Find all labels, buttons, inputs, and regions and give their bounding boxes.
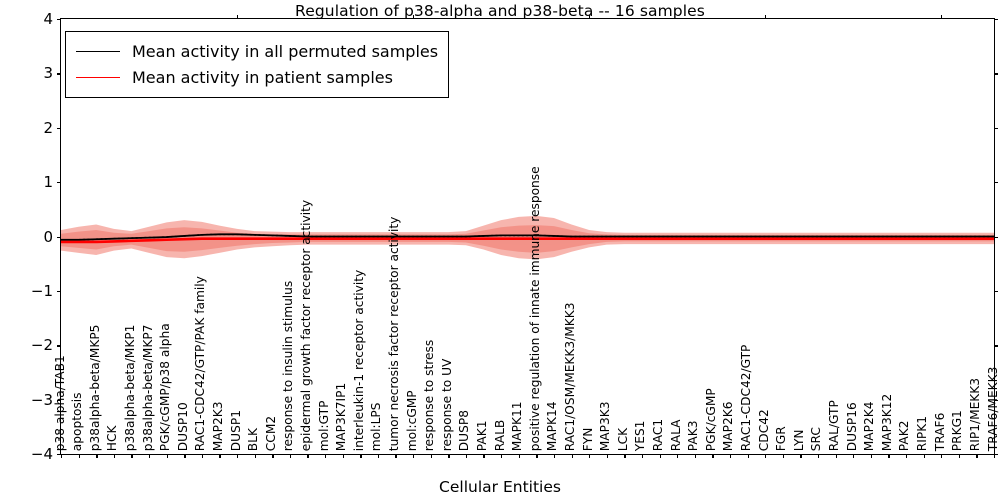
x-tick-mark — [642, 454, 643, 458]
x-tick-label: MAP3K12 — [881, 394, 893, 451]
y-tick-mark — [994, 19, 998, 20]
x-tick-label: TRAF6/MEKK3 — [986, 366, 998, 451]
x-tick-label: FYN — [581, 427, 593, 451]
y-tick-label: −1 — [3, 282, 53, 300]
x-tick-label: MAP2K6 — [722, 401, 734, 451]
x-tick-label: MAP2K4 — [863, 401, 875, 451]
x-axis-label: Cellular Entities — [0, 478, 1000, 496]
x-tick-mark — [79, 454, 80, 458]
x-tick-mark — [61, 454, 62, 458]
x-tick-label: RALB — [493, 420, 505, 451]
x-tick-mark — [589, 454, 590, 458]
x-tick-mark — [976, 454, 977, 458]
x-tick-label: LCK — [617, 428, 629, 451]
x-tick-mark — [184, 454, 185, 458]
legend-entry: Mean activity in all permuted samples — [76, 38, 438, 64]
x-tick-mark — [677, 454, 678, 458]
x-tick-label: RAC1/OSM/MEKK3/MKK3 — [564, 302, 576, 451]
x-tick-mark — [131, 454, 132, 458]
y-tick-label: −2 — [3, 336, 53, 354]
x-tick-mark — [219, 454, 220, 458]
y-tick-mark — [994, 73, 998, 74]
y-tick-label: 3 — [3, 64, 53, 82]
x-tick-mark — [888, 454, 889, 458]
x-tick-mark — [871, 454, 872, 458]
x-tick-mark — [607, 454, 608, 458]
legend-swatch-permuted — [76, 51, 120, 52]
legend-entry: Mean activity in patient samples — [76, 64, 438, 90]
x-tick-mark — [748, 454, 749, 458]
figure: Regulation of p38-alpha and p38-beta -- … — [0, 0, 1000, 500]
plot-area: −4−3−2−101234 p38 alpha/TAB1apoptosisp38… — [60, 18, 995, 455]
x-tick-label: p38alpha-beta/MKP7 — [141, 324, 153, 451]
x-tick-label: DUSP8 — [458, 410, 470, 451]
x-tick-label: RALA — [669, 419, 681, 451]
y-tick-mark — [994, 128, 998, 129]
x-tick-label: CDC42 — [757, 409, 769, 451]
x-tick-mark — [941, 454, 942, 458]
x-tick-mark — [96, 454, 97, 458]
x-tick-mark — [378, 454, 379, 458]
x-tick-label: DUSP10 — [177, 402, 189, 451]
x-tick-mark-top — [413, 15, 414, 19]
x-tick-mark — [413, 454, 414, 458]
x-tick-label: positive regulation of innate immune res… — [529, 166, 541, 451]
y-tick-label: 2 — [3, 119, 53, 137]
x-tick-mark-top — [237, 15, 238, 19]
x-tick-label: tumor necrosis factor receptor activity — [388, 216, 400, 451]
x-tick-mark — [695, 454, 696, 458]
y-tick-mark — [994, 182, 998, 183]
x-tick-mark — [501, 454, 502, 458]
y-tick-label: −3 — [3, 391, 53, 409]
x-tick-mark — [307, 454, 308, 458]
x-tick-mark — [149, 454, 150, 458]
x-tick-mark — [959, 454, 960, 458]
x-tick-label: RIPK1 — [916, 416, 928, 451]
x-tick-label: p38 alpha/TAB1 — [53, 355, 65, 451]
legend-label-patient: Mean activity in patient samples — [132, 68, 393, 87]
x-tick-mark — [431, 454, 432, 458]
x-tick-mark — [483, 454, 484, 458]
x-tick-label: DUSP1 — [229, 410, 241, 451]
x-tick-label: apoptosis — [71, 392, 83, 451]
y-tick-mark — [994, 291, 998, 292]
legend-label-permuted: Mean activity in all permuted samples — [132, 42, 438, 61]
x-tick-mark — [167, 454, 168, 458]
x-tick-label: response to UV — [441, 358, 453, 451]
x-tick-mark — [237, 454, 238, 458]
x-tick-mark — [290, 454, 291, 458]
x-tick-label: PAK1 — [476, 420, 488, 451]
y-tick-mark — [57, 237, 61, 238]
x-tick-mark-top — [941, 15, 942, 19]
x-tick-mark — [836, 454, 837, 458]
y-tick-label: 1 — [3, 173, 53, 191]
x-tick-label: RAL/GTP — [828, 400, 840, 451]
y-tick-label: 0 — [3, 228, 53, 246]
x-tick-mark — [572, 454, 573, 458]
x-tick-label: MAP3K7IP1 — [335, 383, 347, 451]
x-tick-mark — [924, 454, 925, 458]
x-tick-label: response to insulin stimulus — [282, 281, 294, 451]
x-tick-mark — [800, 454, 801, 458]
x-tick-label: LYN — [793, 429, 805, 451]
x-tick-mark — [395, 454, 396, 458]
y-tick-mark — [994, 237, 998, 238]
x-tick-label: DUSP16 — [845, 402, 857, 451]
y-tick-mark — [57, 345, 61, 346]
x-tick-mark — [660, 454, 661, 458]
x-tick-mark — [730, 454, 731, 458]
x-tick-label: mol:GTP — [317, 400, 329, 451]
x-tick-mark — [202, 454, 203, 458]
x-tick-label: RAC1-CDC42/GTP — [740, 344, 752, 451]
x-tick-label: mol:cGMP — [405, 390, 417, 451]
x-tick-label: PAK2 — [898, 420, 910, 451]
x-tick-mark — [994, 454, 995, 458]
x-tick-label: MAP2K3 — [212, 401, 224, 451]
x-tick-label: MAPK11 — [511, 401, 523, 451]
x-tick-mark — [536, 454, 537, 458]
x-tick-label: CCM2 — [265, 416, 277, 451]
x-tick-label: FGR — [775, 426, 787, 451]
x-tick-label: BLK — [247, 428, 259, 451]
x-tick-mark — [519, 454, 520, 458]
x-tick-mark — [343, 454, 344, 458]
y-tick-mark — [57, 291, 61, 292]
x-tick-label: MAPK14 — [546, 401, 558, 451]
legend-swatch-patient — [76, 77, 120, 78]
x-tick-label: RIP1/MEKK3 — [969, 378, 981, 451]
y-tick-label: −4 — [3, 445, 53, 463]
x-tick-label: epidermal growth factor receptor activit… — [300, 200, 312, 451]
x-tick-mark-top — [765, 15, 766, 19]
x-tick-label: response to stress — [423, 340, 435, 451]
x-tick-mark — [765, 454, 766, 458]
x-tick-label: TRAF6 — [933, 412, 945, 451]
x-tick-label: YES1 — [634, 420, 646, 451]
x-tick-label: RAC1 — [652, 419, 664, 451]
x-tick-mark — [325, 454, 326, 458]
x-tick-mark — [255, 454, 256, 458]
x-tick-label: PGK/cGMP — [705, 388, 717, 451]
x-tick-label: PGK/cGMP/p38 alpha — [159, 323, 171, 451]
x-tick-label: MAP3K3 — [599, 401, 611, 451]
y-tick-label: 4 — [3, 10, 53, 28]
x-tick-mark-top — [589, 15, 590, 19]
y-tick-mark — [57, 19, 61, 20]
x-tick-mark — [448, 454, 449, 458]
x-tick-mark — [906, 454, 907, 458]
y-tick-mark — [57, 73, 61, 74]
x-tick-mark — [624, 454, 625, 458]
y-tick-mark — [994, 345, 998, 346]
x-tick-label: RAC1-CDC42/GTP/PAK family — [194, 276, 206, 451]
x-tick-label: p38alpha-beta/MKP5 — [89, 324, 101, 451]
x-tick-mark — [466, 454, 467, 458]
x-tick-label: PAK3 — [687, 420, 699, 451]
x-tick-label: p38alpha-beta/MKP1 — [124, 324, 136, 451]
x-tick-mark — [783, 454, 784, 458]
x-tick-mark — [272, 454, 273, 458]
y-tick-mark — [57, 182, 61, 183]
y-tick-mark — [57, 128, 61, 129]
legend: Mean activity in all permuted samples Me… — [65, 31, 449, 98]
x-tick-label: PRKG1 — [951, 410, 963, 451]
x-tick-label: interleukin-1 receptor activity — [353, 270, 365, 451]
x-tick-mark — [853, 454, 854, 458]
x-tick-label: mol:LPS — [370, 402, 382, 451]
x-tick-label: HCK — [106, 425, 118, 451]
x-tick-label: SRC — [810, 427, 822, 451]
x-tick-mark — [114, 454, 115, 458]
x-tick-mark — [818, 454, 819, 458]
x-tick-mark — [554, 454, 555, 458]
x-tick-mark — [360, 454, 361, 458]
x-tick-mark — [712, 454, 713, 458]
